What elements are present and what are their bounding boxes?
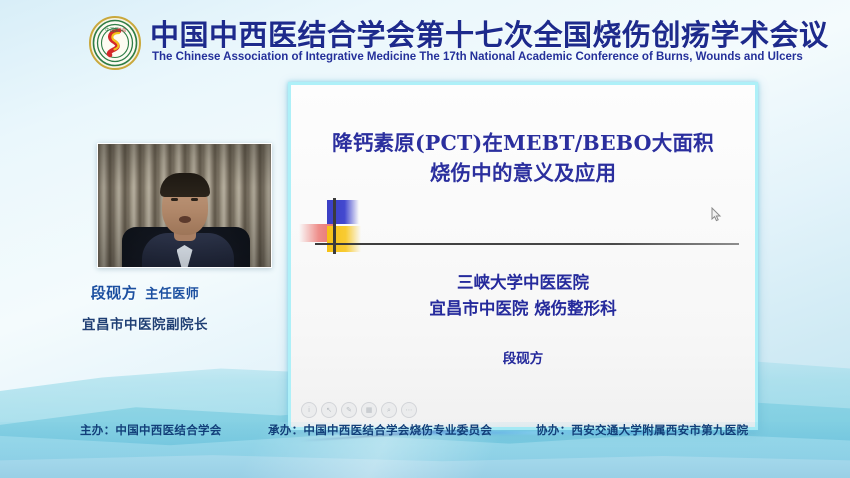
slide-author: 段砚方 (291, 347, 755, 367)
speaker-caption: 段砚方主任医师 宜昌市中医院副院长 (0, 282, 290, 333)
slide-title: 降钙素原(PCT)在MEBT/BEBO大面积 烧伤中的意义及应用 (291, 129, 755, 188)
deco-horizontal-line (315, 243, 739, 245)
cn-integrative-medicine-logo-icon: 中西医 结合 (88, 16, 142, 70)
slide-organization-line-2: 宜昌市中医院 烧伤整形科 (291, 296, 755, 322)
slide-organization-line-1: 三峡大学中医医院 (291, 270, 755, 296)
presentation-stream-screen: 中西医 结合 中国中西医结合学会第十七次全国烧伤创疡学术会议 The Chine… (0, 0, 850, 478)
speaker-affiliation: 宜昌市中医院副院长 (0, 313, 290, 333)
deco-vertical-line (333, 198, 336, 254)
webcam-vignette (98, 144, 271, 267)
presenter-webcam-video[interactable] (97, 143, 272, 268)
slides-grid-icon[interactable]: ▦ (361, 402, 377, 418)
slide-toolbar[interactable]: i ↖ ✎ ▦ ⌕ ⋯ (301, 402, 417, 418)
pointer-icon[interactable]: ↖ (321, 402, 337, 418)
speaker-name: 段砚方 (91, 285, 138, 302)
conference-footer: 主办：中国中西医结合学会 承办：中国中西医结合学会烧伤专业委员会 协办：西安交通… (0, 422, 850, 478)
mouse-cursor-icon (711, 207, 722, 222)
conference-header: 中西医 结合 中国中西医结合学会第十七次全国烧伤创疡学术会议 The Chine… (0, 0, 850, 76)
speaker-name-row: 段砚方主任医师 (0, 282, 290, 303)
conference-title-en: The Chinese Association of Integrative M… (152, 51, 803, 63)
zoom-icon[interactable]: ⌕ (381, 402, 397, 418)
speaker-rank: 主任医师 (145, 286, 199, 301)
conference-title-cn: 中国中西医结合学会第十七次全国烧伤创疡学术会议 (150, 12, 829, 54)
footer-organizer: 承办：中国中西医结合学会烧伤专业委员会 (268, 422, 492, 438)
more-options-icon[interactable]: ⋯ (401, 402, 417, 418)
footer-host: 主办：中国中西医结合学会 (80, 422, 222, 438)
slide-organization: 三峡大学中医医院 宜昌市中医院 烧伤整形科 (291, 270, 755, 321)
shared-slide-viewport[interactable]: 降钙素原(PCT)在MEBT/BEBO大面积 烧伤中的意义及应用 三峡大学中医医… (288, 82, 758, 430)
slide-canvas: 降钙素原(PCT)在MEBT/BEBO大面积 烧伤中的意义及应用 三峡大学中医医… (291, 85, 755, 427)
slide-decoration (299, 198, 739, 254)
svg-text:结合: 结合 (117, 27, 127, 34)
pen-icon[interactable]: ✎ (341, 402, 357, 418)
slide-title-line-1: 降钙素原(PCT)在MEBT/BEBO大面积 (303, 129, 743, 159)
deco-blue-square (327, 200, 359, 224)
info-icon[interactable]: i (301, 402, 317, 418)
footer-co-organizer: 协办：西安交通大学附属西安市第九医院 (536, 422, 748, 438)
slide-title-line-2: 烧伤中的意义及应用 (303, 159, 743, 189)
